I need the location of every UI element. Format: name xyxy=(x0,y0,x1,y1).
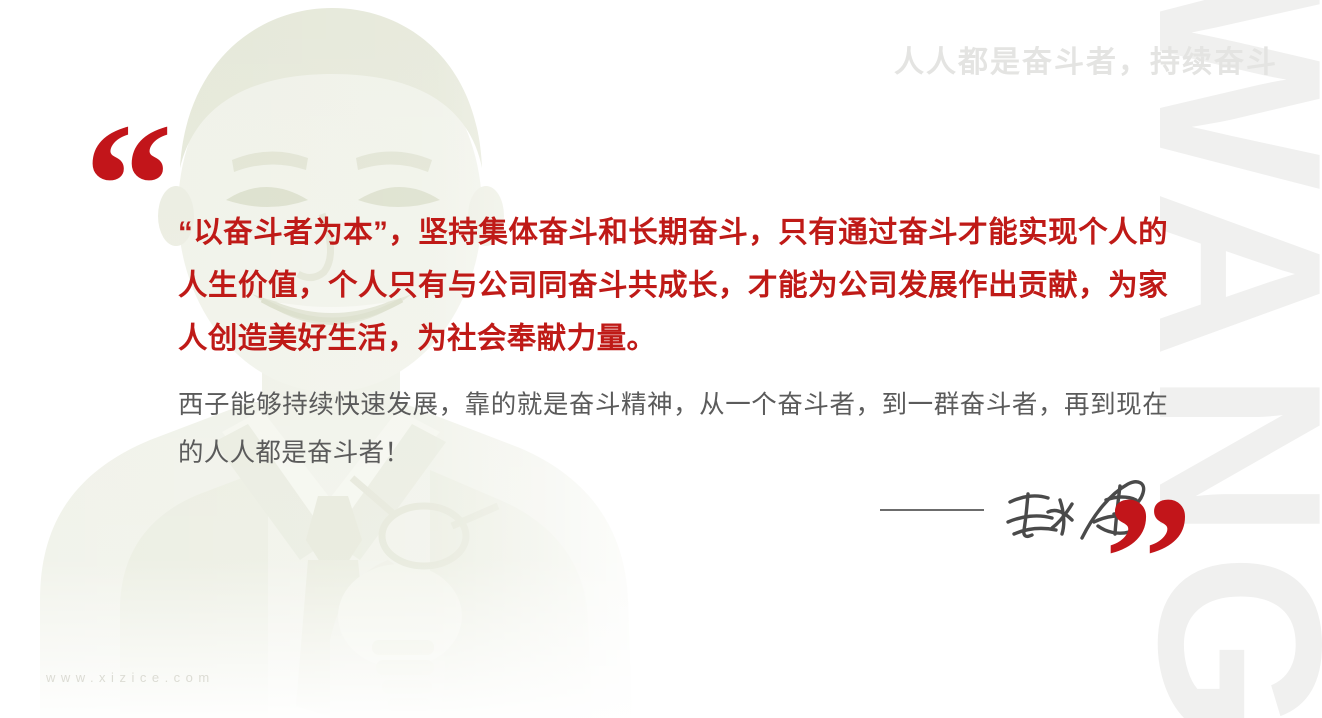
quote-sub-text: 西子能够持续快速发展，靠的就是奋斗精神，从一个奋斗者，到一群奋斗者，再到现在的人… xyxy=(178,381,1168,477)
footer-url: www.xizice.com xyxy=(46,670,215,685)
signature-dash xyxy=(880,509,984,511)
header-tagline: 人人都是奋斗者，持续奋斗 xyxy=(894,37,1278,81)
quote-close-mark: ” xyxy=(1104,469,1189,647)
quote-open-mark: “ xyxy=(84,96,169,274)
slide-root: WANG 人人都是奋斗者，持续奋斗 “ “以奋斗者为本”，坚持集体奋斗和长期奋斗… xyxy=(0,0,1322,718)
quote-main-text: “以奋斗者为本”，坚持集体奋斗和长期奋斗，只有通过奋斗才能实现个人的人生价值，个… xyxy=(178,206,1168,365)
quote-text-block: “以奋斗者为本”，坚持集体奋斗和长期奋斗，只有通过奋斗才能实现个人的人生价值，个… xyxy=(178,206,1168,477)
